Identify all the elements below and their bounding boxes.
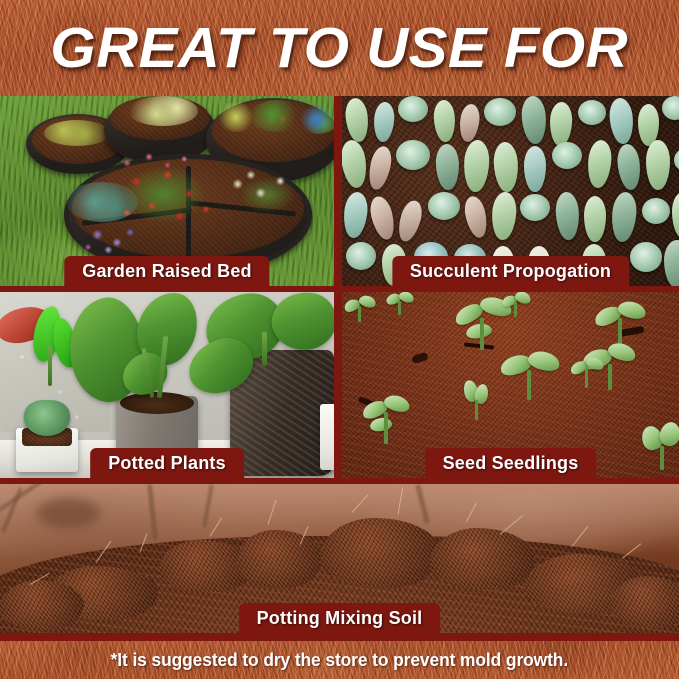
seed-seedlings-photo: Seed Seedlings <box>342 292 679 478</box>
caption-potting-mixing-soil: Potting Mixing Soil <box>239 603 441 633</box>
caption-succulent-propogation: Succulent Propogation <box>392 256 629 286</box>
caption-seed-seedlings: Seed Seedlings <box>425 448 597 478</box>
storage-advice-text: *It is suggested to dry the store to pre… <box>111 650 568 670</box>
header-banner: GREAT TO USE FOR <box>0 0 679 96</box>
product-infographic: GREAT TO USE FOR <box>0 0 679 679</box>
panel-potted-plants: Potted Plants <box>0 292 334 478</box>
caption-garden-raised-bed: Garden Raised Bed <box>64 256 269 286</box>
panel-seed-seedlings: Seed Seedlings <box>342 292 679 478</box>
caption-potted-plants: Potted Plants <box>90 448 244 478</box>
panel-garden-raised-bed: Garden Raised Bed <box>0 96 334 286</box>
panel-succulent-propogation: Succulent Propogation <box>342 96 679 286</box>
potting-mixing-soil-photo: Potting Mixing Soil <box>0 484 679 633</box>
potted-plants-photo: Potted Plants <box>0 292 334 478</box>
footer-note-bar: *It is suggested to dry the store to pre… <box>0 637 679 679</box>
panel-potting-mixing-soil: Potting Mixing Soil <box>0 484 679 633</box>
use-case-grid: Garden Raised Bed <box>0 96 679 633</box>
page-title: GREAT TO USE FOR <box>51 20 629 77</box>
garden-raised-bed-photo: Garden Raised Bed <box>0 96 334 286</box>
succulent-propogation-photo: Succulent Propogation <box>342 96 679 286</box>
